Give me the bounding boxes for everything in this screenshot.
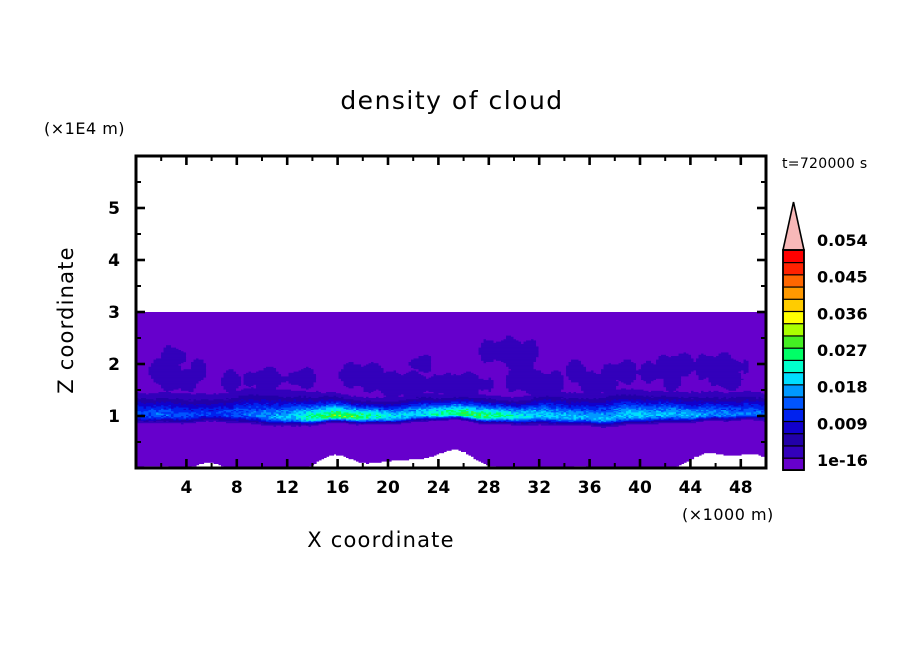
colorbar-tick-label: 0.036	[817, 304, 868, 323]
colorbar-band	[783, 336, 804, 349]
colorbar-tick-label: 1e-16	[817, 451, 868, 470]
colorbar-overflow-arrow	[783, 202, 804, 250]
colorbar-band	[783, 458, 804, 471]
colorbar-band	[783, 299, 804, 312]
colorbar-band	[783, 323, 804, 336]
colorbar-band	[783, 446, 804, 459]
colorbar-band	[783, 348, 804, 361]
colorbar-bands	[783, 202, 804, 470]
colorbar-band	[783, 397, 804, 410]
colorbar-band	[783, 433, 804, 446]
colorbar: 0.0540.0450.0360.0270.0180.0091e-16	[0, 0, 904, 654]
colorbar-tick-label: 0.054	[817, 231, 868, 250]
figure-canvas: density of cloud (×1E4 m) t=720000 s (×1…	[0, 0, 904, 654]
colorbar-band	[783, 311, 804, 324]
colorbar-band	[783, 384, 804, 397]
colorbar-band	[783, 262, 804, 275]
colorbar-band	[783, 274, 804, 287]
colorbar-band	[783, 421, 804, 434]
colorbar-labels: 0.0540.0450.0360.0270.0180.0091e-16	[817, 231, 868, 470]
colorbar-band	[783, 287, 804, 300]
colorbar-tick-label: 0.009	[817, 414, 868, 433]
colorbar-band	[783, 250, 804, 263]
colorbar-band	[783, 372, 804, 385]
colorbar-tick-label: 0.045	[817, 268, 868, 287]
colorbar-tick-label: 0.018	[817, 378, 868, 397]
colorbar-band	[783, 409, 804, 422]
colorbar-band	[783, 360, 804, 373]
colorbar-tick-label: 0.027	[817, 341, 868, 360]
